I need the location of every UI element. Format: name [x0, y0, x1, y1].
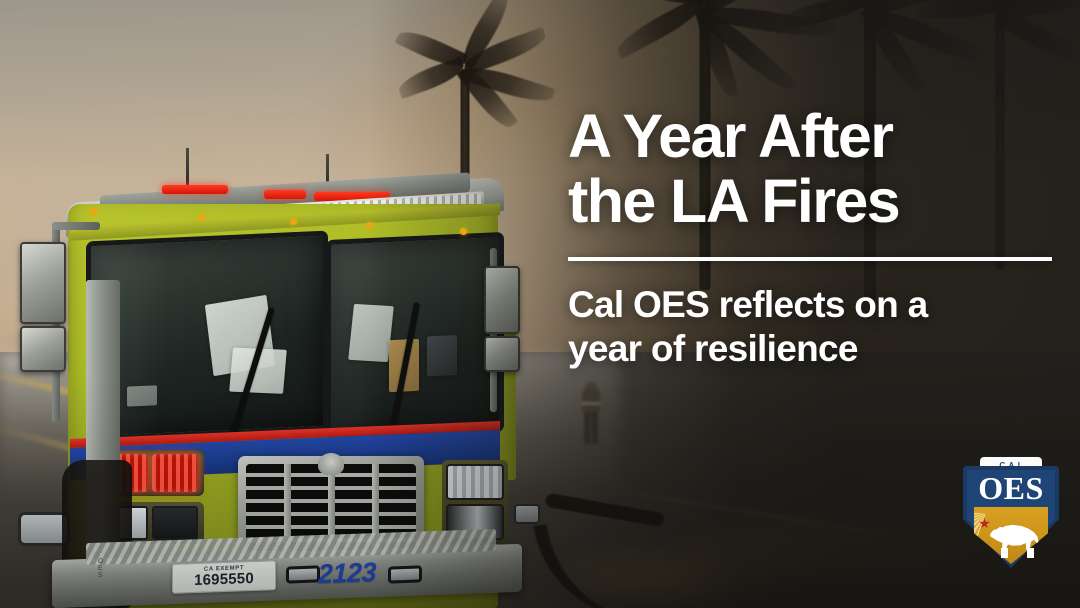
logo-bear-leg-front	[1001, 548, 1008, 558]
logo-oes-text: OES	[963, 472, 1059, 504]
divider-rule	[568, 257, 1052, 261]
headline: A Year After the LA Fires	[568, 104, 1054, 233]
amber-led-3	[290, 218, 297, 225]
subheadline-line-2: year of resilience	[568, 328, 858, 369]
text-block: A Year After the LA Fires Cal OES reflec…	[568, 104, 1054, 370]
amber-led-4	[366, 222, 373, 229]
amber-led-1	[90, 208, 97, 215]
amber-led-2	[198, 214, 205, 221]
headline-line-2: the LA Fires	[568, 167, 899, 235]
logo-bear-leg-rear	[1027, 548, 1034, 558]
amber-led-5	[460, 228, 467, 235]
subheadline-line-1: Cal OES reflects on a	[568, 284, 928, 325]
cal-oes-logo: CAL OES	[963, 452, 1059, 576]
subheadline: Cal OES reflects on a year of resilience	[568, 283, 1054, 370]
promo-banner: O E S CA EXEMPT 1695550 2123 A Year Afte…	[0, 0, 1080, 608]
headline-line-1: A Year After	[568, 102, 892, 170]
